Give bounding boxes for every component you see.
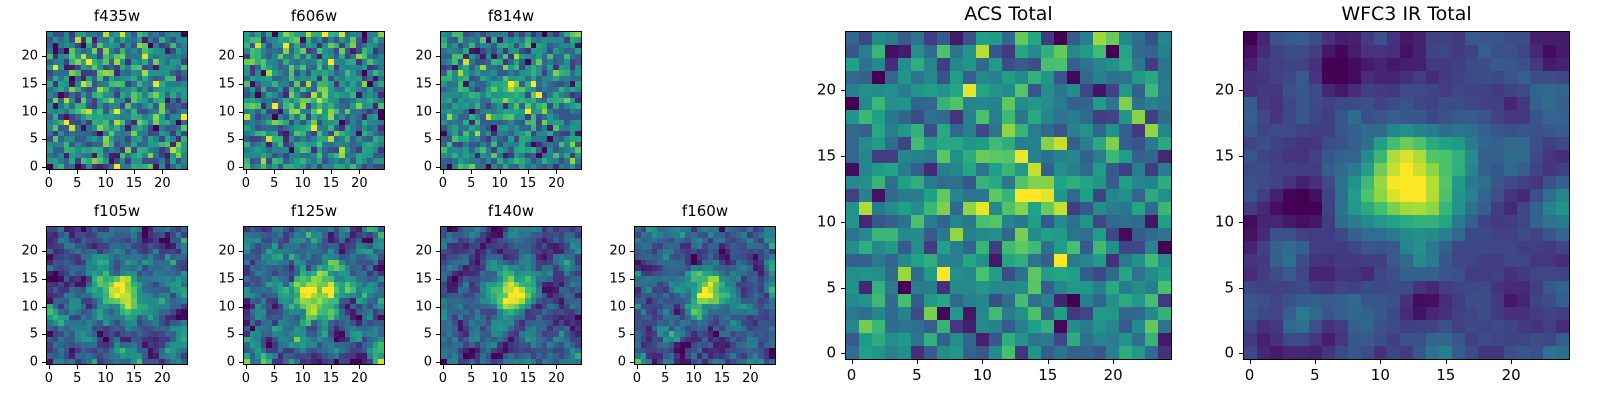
- panel-title-f160w: f160w: [634, 204, 776, 219]
- xtick-label: 15: [126, 372, 143, 385]
- xtick-mark: [246, 170, 247, 174]
- xtick-label: 5: [270, 177, 278, 190]
- xtick-mark: [1048, 360, 1049, 364]
- ytick-mark: [841, 222, 845, 223]
- ytick-mark: [239, 56, 243, 57]
- panel-f125w: f125w0510152005101520: [243, 226, 385, 365]
- ytick-mark: [436, 167, 440, 168]
- ytick-mark: [436, 279, 440, 280]
- xtick-mark: [1250, 360, 1251, 364]
- ytick-label: 10: [796, 214, 836, 229]
- ytick-mark: [436, 139, 440, 140]
- ytick-label: 20: [392, 50, 432, 63]
- heatmap-f435w: [47, 32, 187, 169]
- ytick-mark: [841, 90, 845, 91]
- ytick-mark: [42, 84, 46, 85]
- ytick-label: 0: [796, 346, 836, 361]
- ytick-mark: [239, 251, 243, 252]
- xtick-label: 5: [1310, 368, 1320, 383]
- axes-acs-total: [845, 31, 1172, 360]
- panel-title-f606w: f606w: [243, 9, 385, 24]
- xtick-label: 20: [154, 372, 171, 385]
- xtick-mark: [528, 365, 529, 369]
- xtick-label: 10: [97, 372, 114, 385]
- xtick-mark: [49, 365, 50, 369]
- ytick-mark: [42, 334, 46, 335]
- xtick-mark: [274, 170, 275, 174]
- xtick-label: 15: [323, 177, 340, 190]
- xtick-label: 5: [73, 372, 81, 385]
- xtick-label: 20: [742, 372, 759, 385]
- ytick-label: 15: [392, 272, 432, 285]
- panel-title-f105w: f105w: [46, 204, 188, 219]
- xtick-label: 15: [126, 177, 143, 190]
- xtick-mark: [162, 170, 163, 174]
- ytick-label: 20: [796, 83, 836, 98]
- ytick-label: 5: [392, 133, 432, 146]
- ytick-mark: [42, 112, 46, 113]
- panel-acs-total: ACS Total0510152005101520: [845, 31, 1172, 360]
- xtick-mark: [917, 360, 918, 364]
- ytick-mark: [42, 56, 46, 57]
- figure-canvas: f435w0510152005101520f606w05101520051015…: [0, 0, 1600, 400]
- ytick-label: 5: [0, 133, 38, 146]
- ytick-label: 10: [1194, 214, 1234, 229]
- ytick-mark: [436, 334, 440, 335]
- xtick-mark: [665, 365, 666, 369]
- ytick-mark: [239, 334, 243, 335]
- ytick-label: 0: [195, 161, 235, 174]
- xtick-label: 15: [323, 372, 340, 385]
- axes-f160w: [634, 226, 776, 365]
- ytick-label: 15: [586, 272, 626, 285]
- xtick-label: 20: [351, 372, 368, 385]
- ytick-label: 20: [195, 245, 235, 258]
- xtick-mark: [750, 365, 751, 369]
- panel-title-acs-total: ACS Total: [845, 5, 1172, 24]
- ytick-mark: [1239, 156, 1243, 157]
- ytick-label: 5: [0, 328, 38, 341]
- ytick-mark: [1239, 353, 1243, 354]
- xtick-label: 5: [73, 177, 81, 190]
- ytick-mark: [239, 167, 243, 168]
- ytick-label: 10: [586, 300, 626, 313]
- ytick-label: 15: [0, 272, 38, 285]
- ytick-label: 20: [195, 50, 235, 63]
- xtick-mark: [528, 170, 529, 174]
- panel-title-f140w: f140w: [440, 204, 582, 219]
- ytick-label: 20: [392, 245, 432, 258]
- ytick-label: 20: [1194, 83, 1234, 98]
- ytick-label: 5: [392, 328, 432, 341]
- ytick-mark: [239, 84, 243, 85]
- ytick-label: 0: [195, 356, 235, 369]
- xtick-label: 15: [1038, 368, 1057, 383]
- xtick-mark: [1113, 360, 1114, 364]
- panel-f814w: f814w0510152005101520: [440, 31, 582, 170]
- ytick-mark: [1239, 222, 1243, 223]
- ytick-label: 0: [392, 356, 432, 369]
- heatmap-f125w: [244, 227, 384, 364]
- xtick-label: 5: [467, 372, 475, 385]
- xtick-mark: [162, 365, 163, 369]
- xtick-mark: [49, 170, 50, 174]
- xtick-label: 20: [1502, 368, 1521, 383]
- xtick-label: 10: [294, 177, 311, 190]
- ytick-mark: [436, 84, 440, 85]
- ytick-mark: [841, 156, 845, 157]
- xtick-label: 15: [714, 372, 731, 385]
- xtick-mark: [1315, 360, 1316, 364]
- xtick-mark: [303, 170, 304, 174]
- xtick-label: 0: [633, 372, 641, 385]
- axes-f125w: [243, 226, 385, 365]
- ytick-label: 0: [392, 161, 432, 174]
- xtick-label: 5: [661, 372, 669, 385]
- ytick-label: 10: [0, 105, 38, 118]
- ytick-mark: [42, 167, 46, 168]
- xtick-mark: [1380, 360, 1381, 364]
- panel-f435w: f435w0510152005101520: [46, 31, 188, 170]
- ytick-mark: [42, 139, 46, 140]
- ytick-mark: [239, 139, 243, 140]
- xtick-mark: [443, 170, 444, 174]
- ytick-mark: [841, 288, 845, 289]
- xtick-mark: [852, 360, 853, 364]
- ytick-label: 20: [0, 50, 38, 63]
- ytick-label: 10: [392, 105, 432, 118]
- ytick-label: 15: [392, 77, 432, 90]
- xtick-label: 15: [1436, 368, 1455, 383]
- ytick-label: 5: [195, 133, 235, 146]
- xtick-mark: [694, 365, 695, 369]
- ytick-mark: [42, 279, 46, 280]
- xtick-mark: [303, 365, 304, 369]
- ytick-label: 5: [796, 280, 836, 295]
- axes-f435w: [46, 31, 188, 170]
- xtick-label: 0: [439, 177, 447, 190]
- xtick-label: 10: [1371, 368, 1390, 383]
- xtick-label: 0: [242, 177, 250, 190]
- xtick-label: 10: [973, 368, 992, 383]
- panel-wfc3-ir-total: WFC3 IR Total0510152005101520: [1243, 31, 1570, 360]
- xtick-mark: [471, 365, 472, 369]
- xtick-mark: [471, 170, 472, 174]
- ytick-label: 15: [1194, 149, 1234, 164]
- xtick-mark: [246, 365, 247, 369]
- ytick-mark: [436, 56, 440, 57]
- panel-f105w: f105w0510152005101520: [46, 226, 188, 365]
- ytick-label: 15: [0, 77, 38, 90]
- ytick-mark: [239, 307, 243, 308]
- ytick-label: 20: [586, 245, 626, 258]
- ytick-label: 5: [586, 328, 626, 341]
- ytick-label: 15: [195, 272, 235, 285]
- ytick-mark: [239, 279, 243, 280]
- heatmap-f160w: [635, 227, 775, 364]
- panel-title-f814w: f814w: [440, 9, 582, 24]
- heatmap-f606w: [244, 32, 384, 169]
- heatmap-f140w: [441, 227, 581, 364]
- xtick-mark: [722, 365, 723, 369]
- panel-title-wfc3-ir-total: WFC3 IR Total: [1243, 5, 1570, 24]
- xtick-label: 0: [439, 372, 447, 385]
- ytick-label: 5: [195, 328, 235, 341]
- xtick-label: 20: [154, 177, 171, 190]
- ytick-label: 0: [586, 356, 626, 369]
- panel-f140w: f140w0510152005101520: [440, 226, 582, 365]
- xtick-mark: [106, 170, 107, 174]
- ytick-label: 0: [1194, 346, 1234, 361]
- xtick-mark: [331, 170, 332, 174]
- ytick-mark: [436, 251, 440, 252]
- xtick-mark: [359, 170, 360, 174]
- xtick-mark: [556, 170, 557, 174]
- ytick-label: 10: [195, 105, 235, 118]
- xtick-mark: [982, 360, 983, 364]
- xtick-mark: [500, 170, 501, 174]
- axes-f140w: [440, 226, 582, 365]
- xtick-mark: [359, 365, 360, 369]
- ytick-mark: [436, 307, 440, 308]
- xtick-label: 20: [548, 177, 565, 190]
- ytick-label: 5: [1194, 280, 1234, 295]
- ytick-mark: [436, 362, 440, 363]
- xtick-label: 10: [491, 177, 508, 190]
- ytick-mark: [42, 362, 46, 363]
- ytick-mark: [42, 251, 46, 252]
- xtick-mark: [1446, 360, 1447, 364]
- xtick-label: 10: [97, 177, 114, 190]
- ytick-mark: [239, 112, 243, 113]
- xtick-mark: [106, 365, 107, 369]
- axes-f814w: [440, 31, 582, 170]
- ytick-label: 20: [0, 245, 38, 258]
- xtick-mark: [556, 365, 557, 369]
- axes-f606w: [243, 31, 385, 170]
- axes-wfc3-ir-total: [1243, 31, 1570, 360]
- ytick-label: 10: [392, 300, 432, 313]
- heatmap-wfc3-ir-total: [1244, 32, 1569, 359]
- ytick-mark: [630, 279, 634, 280]
- ytick-mark: [841, 353, 845, 354]
- xtick-label: 20: [548, 372, 565, 385]
- xtick-label: 15: [520, 372, 537, 385]
- ytick-label: 10: [195, 300, 235, 313]
- xtick-label: 0: [242, 372, 250, 385]
- ytick-mark: [239, 362, 243, 363]
- xtick-mark: [274, 365, 275, 369]
- xtick-label: 0: [45, 177, 53, 190]
- xtick-label: 5: [270, 372, 278, 385]
- ytick-mark: [630, 307, 634, 308]
- ytick-label: 15: [796, 149, 836, 164]
- heatmap-acs-total: [846, 32, 1171, 359]
- xtick-label: 10: [491, 372, 508, 385]
- panel-title-f125w: f125w: [243, 204, 385, 219]
- axes-f105w: [46, 226, 188, 365]
- ytick-mark: [630, 362, 634, 363]
- xtick-label: 0: [1245, 368, 1255, 383]
- xtick-label: 5: [912, 368, 922, 383]
- heatmap-f105w: [47, 227, 187, 364]
- xtick-mark: [500, 365, 501, 369]
- xtick-mark: [637, 365, 638, 369]
- ytick-label: 0: [0, 356, 38, 369]
- xtick-mark: [443, 365, 444, 369]
- ytick-label: 15: [195, 77, 235, 90]
- panel-title-f435w: f435w: [46, 9, 188, 24]
- xtick-mark: [77, 170, 78, 174]
- ytick-mark: [630, 251, 634, 252]
- xtick-label: 10: [294, 372, 311, 385]
- xtick-label: 10: [685, 372, 702, 385]
- ytick-mark: [1239, 288, 1243, 289]
- ytick-mark: [1239, 90, 1243, 91]
- xtick-mark: [134, 170, 135, 174]
- xtick-label: 0: [45, 372, 53, 385]
- xtick-mark: [77, 365, 78, 369]
- ytick-mark: [630, 334, 634, 335]
- ytick-mark: [42, 307, 46, 308]
- heatmap-f814w: [441, 32, 581, 169]
- ytick-label: 0: [0, 161, 38, 174]
- xtick-label: 20: [1104, 368, 1123, 383]
- xtick-label: 5: [467, 177, 475, 190]
- xtick-label: 20: [351, 177, 368, 190]
- xtick-label: 0: [847, 368, 857, 383]
- xtick-mark: [134, 365, 135, 369]
- panel-f606w: f606w0510152005101520: [243, 31, 385, 170]
- xtick-mark: [1511, 360, 1512, 364]
- ytick-mark: [436, 112, 440, 113]
- panel-f160w: f160w0510152005101520: [634, 226, 776, 365]
- xtick-mark: [331, 365, 332, 369]
- ytick-label: 10: [0, 300, 38, 313]
- xtick-label: 15: [520, 177, 537, 190]
